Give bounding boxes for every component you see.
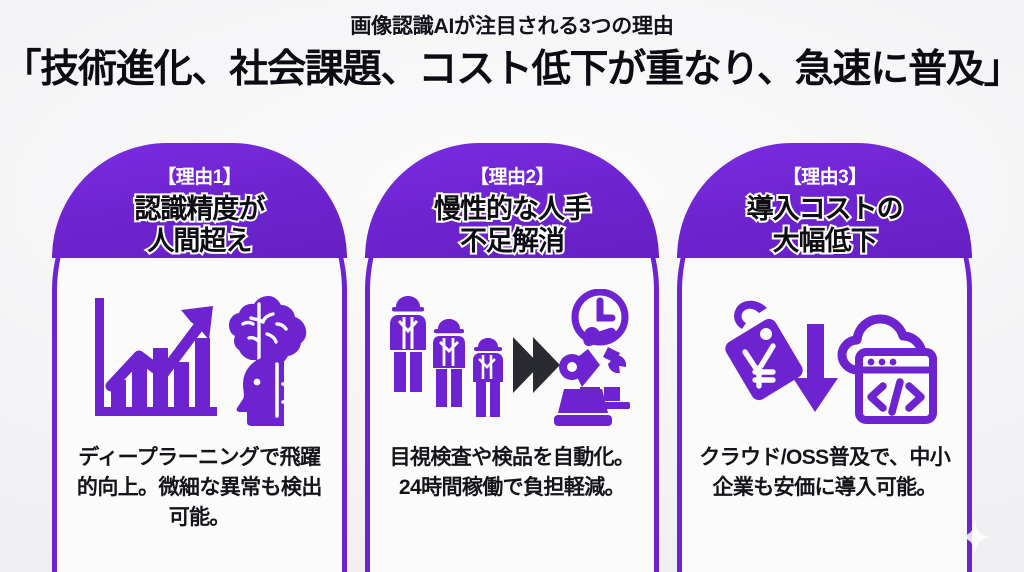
head-profile-icon <box>237 356 292 426</box>
reason-card-1[interactable]: 【理由1】 認識精度が 人間超え <box>52 143 347 572</box>
price-tag-yen-icon <box>725 301 802 400</box>
workers-group-icon <box>390 296 503 417</box>
card-icon-group-2 <box>370 283 655 433</box>
slide-canvas: 画像認識AIが注目される3つの理由 「技術進化、社会課題、コスト低下が重なり、急… <box>0 0 1024 572</box>
slide-subtitle: 画像認識AIが注目される3つの理由 <box>0 14 1024 40</box>
card-icon-group-3 <box>682 283 967 433</box>
card-arch-top <box>677 143 972 258</box>
reason-card-2[interactable]: 【理由2】 慢性的な人手 不足解消 <box>365 143 660 572</box>
card-body-3: クラウド/OSS普及で、中小企業も安価に導入可能。 <box>696 443 953 503</box>
reason-card-3[interactable]: 【理由3】 導入コストの 大幅低下 <box>677 143 972 572</box>
card-icon-group-1 <box>57 283 342 433</box>
card-body-1: ディープラーニングで飛躍的向上。微細な異常も検出可能。 <box>71 443 328 532</box>
bar-chart-growth-icon <box>95 298 217 416</box>
card-body-2: 目視検査や検品を自動化。24時間稼働で負担軽減。 <box>384 443 641 503</box>
reason-card-list: 【理由1】 認識精度が 人間超え <box>52 143 972 572</box>
card-arch-top <box>52 143 347 258</box>
brain-icon <box>229 296 306 366</box>
code-window-icon <box>859 352 933 420</box>
card-arch-top <box>365 143 660 258</box>
slide-header: 画像認識AIが注目される3つの理由 「技術進化、社会課題、コスト低下が重なり、急… <box>0 14 1024 93</box>
slide-headline: 「技術進化、社会課題、コスト低下が重なり、急速に普及」 <box>0 47 1024 93</box>
double-chevron-right-icon <box>513 337 560 393</box>
